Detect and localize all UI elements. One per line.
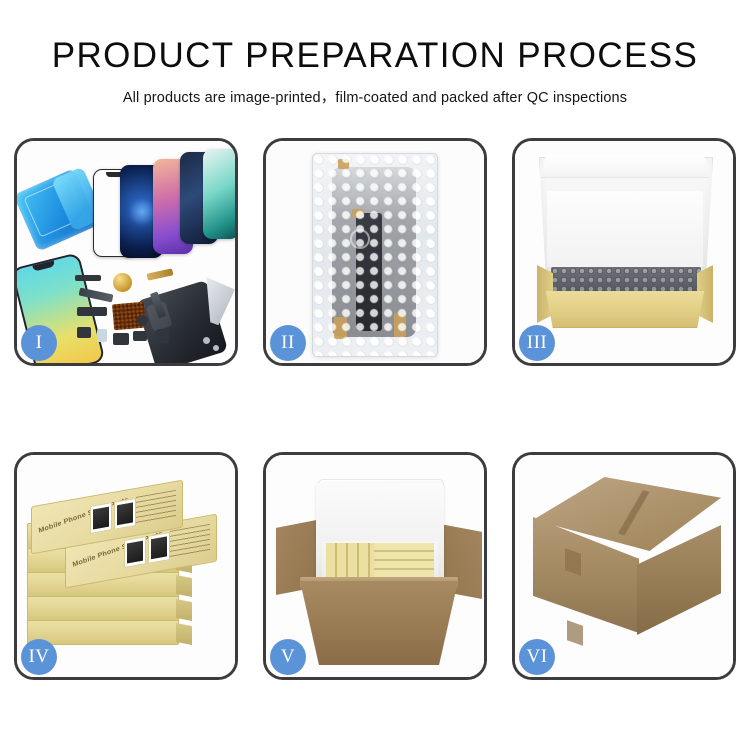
process-step-grid: I II [14, 138, 736, 680]
screw-secondary-icon [213, 345, 219, 351]
box-product-image-c [90, 502, 112, 534]
page-title: PRODUCT PREPARATION PROCESS [0, 36, 750, 76]
small-part-b-icon [77, 327, 91, 338]
vibration-motor-icon [113, 273, 132, 292]
box-front-panel-icon [539, 291, 711, 328]
process-step-card-2[interactable]: II [263, 138, 487, 366]
tape-tab-3-icon [334, 317, 347, 339]
step-badge-3: III [519, 325, 555, 361]
box-side-face [176, 599, 192, 621]
page-header: PRODUCT PREPARATION PROCESS All products… [0, 0, 750, 107]
tape-tab-2-icon [338, 159, 349, 169]
step-badge-5: V [270, 639, 306, 675]
tape-tab-4-icon [394, 313, 406, 337]
small-part-c-icon [97, 329, 107, 342]
carton-tape-lower-icon [567, 620, 583, 646]
tape-tab-1-icon [352, 209, 364, 218]
step-badge-1: I [21, 325, 57, 361]
box-side-face [176, 623, 192, 645]
box-spec-lines [170, 524, 210, 559]
process-step-card-4[interactable]: Mobile Phone Spare Parts Mobile Phone Sp… [14, 452, 238, 680]
inner-boxes-row-secondary-icon [374, 543, 434, 579]
gold-flex-cable-icon [147, 268, 174, 280]
box-stack: Mobile Phone Spare Parts Mobile Phone Sp… [23, 469, 235, 669]
process-step-card-1[interactable]: I [14, 138, 238, 366]
stacked-box-bottom-2 [27, 595, 179, 621]
process-step-card-5[interactable]: V [263, 452, 487, 680]
box-product-image-b [148, 532, 170, 564]
wrapped-ic-icon [350, 229, 370, 249]
small-part-a-icon [75, 275, 101, 281]
speaker-mesh-icon [77, 307, 107, 316]
small-part-d-icon [113, 333, 129, 345]
box-lid-edge-icon [541, 155, 709, 178]
process-step-card-6[interactable]: VI [512, 452, 736, 680]
step-badge-4: IV [21, 639, 57, 675]
box-side-face [176, 575, 192, 597]
box-product-image-d [114, 498, 136, 530]
stacked-box-bottom-1 [27, 619, 179, 645]
process-step-card-3[interactable]: III [512, 138, 736, 366]
carton-body-icon [300, 581, 458, 665]
camera-lens-icon [137, 315, 148, 326]
box-product-image-a [124, 536, 146, 568]
phone-teal-screen-icon [203, 149, 235, 239]
step-badge-2: II [270, 325, 306, 361]
box-bubble-contents-icon [551, 267, 701, 295]
screw-icon [203, 337, 210, 344]
step-badge-6: VI [519, 639, 555, 675]
box-spec-lines-top [136, 490, 176, 525]
small-part-e-icon [133, 331, 147, 341]
page-subtitle: All products are image-printed，film-coat… [0, 86, 750, 107]
box-foam-liner-icon [547, 191, 703, 267]
small-part-f-icon [157, 329, 169, 343]
